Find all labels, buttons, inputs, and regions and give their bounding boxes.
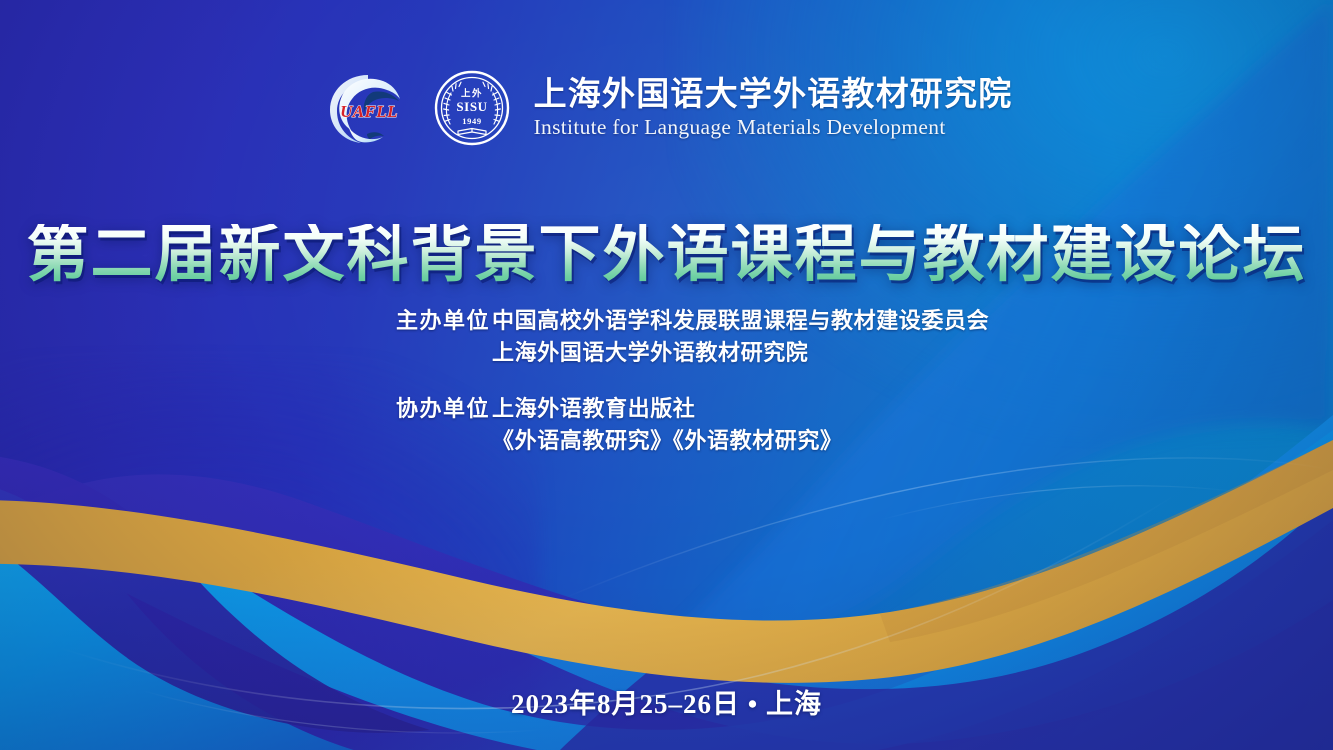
page-title: 第二届新文科背景下外语课程与教材建设论坛 [26, 224, 1306, 286]
institute-name-en: Institute for Language Materials Develop… [534, 115, 1013, 140]
conference-banner: UAFLL 上外 SISU 1949 [0, 0, 1333, 750]
footer-date-location: 2023年8月25–26日 • 上海 [0, 682, 1333, 721]
organizer-line: 上海外语教育出版社 [492, 393, 843, 425]
organizer-group-host: 主办单位 中国高校外语学科发展联盟课程与教材建设委员会 上海外国语大学外语教材研… [396, 305, 989, 369]
sisu-seal-cn-text: 上外 [461, 88, 483, 100]
organizer-values-host: 中国高校外语学科发展联盟课程与教材建设委员会 上海外国语大学外语教材研究院 [492, 305, 989, 369]
organizers-block: 主办单位 中国高校外语学科发展联盟课程与教材建设委员会 上海外国语大学外语教材研… [396, 305, 989, 457]
sisu-seal-year: 1949 [462, 116, 481, 126]
header-logo-row: UAFLL 上外 SISU 1949 [0, 68, 1333, 148]
organizer-group-coorganizer: 协办单位 上海外语教育出版社 《外语高教研究》《外语教材研究》 [396, 393, 989, 457]
date-location-text: 2023年8月25–26日 • 上海 [511, 689, 822, 719]
organizer-label-host: 主办单位 [396, 305, 492, 337]
organizer-line: 《外语高教研究》《外语教材研究》 [492, 425, 843, 457]
uafll-wordmark: UAFLL [340, 102, 398, 121]
institute-name-block: 上海外国语大学外语教材研究院 Institute for Language Ma… [534, 77, 1013, 140]
organizer-line: 中国高校外语学科发展联盟课程与教材建设委员会 [492, 305, 989, 337]
sisu-seal-logo: 上外 SISU 1949 [433, 69, 511, 147]
organizer-label-coorganizer: 协办单位 [396, 393, 492, 425]
organizer-line: 上海外国语大学外语教材研究院 [492, 337, 989, 369]
organizer-values-coorganizer: 上海外语教育出版社 《外语高教研究》《外语教材研究》 [492, 393, 843, 457]
sisu-seal-wordmark: SISU [456, 99, 487, 114]
uafll-logo: UAFLL [321, 68, 415, 148]
institute-name-cn: 上海外国语大学外语教材研究院 [534, 77, 1013, 112]
